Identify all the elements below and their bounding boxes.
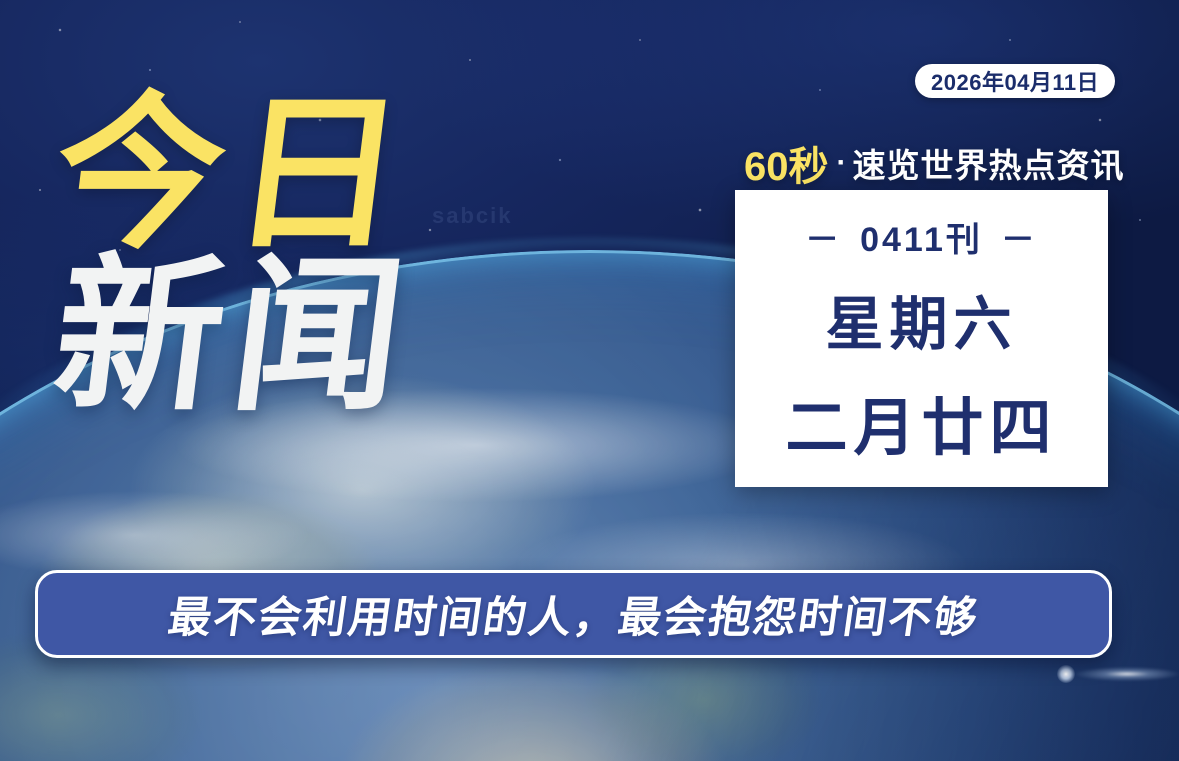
date-badge: 2026年04月11日 [915, 64, 1115, 98]
issue-row: － 0411刊 － [805, 212, 1038, 261]
lunar-date-label: 二月廿四 [785, 377, 1057, 467]
tagline: 60秒 · 速览世界热点资讯 [744, 140, 1110, 186]
lens-flare-core [1057, 665, 1075, 683]
issue-dash-left: － [805, 212, 842, 261]
tagline-rest: 速览世界热点资讯 [853, 139, 1125, 187]
title-line-today: 今日 [46, 96, 495, 254]
poster-title: 今日 新闻 [56, 96, 486, 416]
tagline-highlight: 60秒 [744, 134, 829, 192]
issue-dash-right: － [1001, 212, 1038, 261]
quote-text: 最不会利用时间的人，最会抱怨时间不够 [164, 583, 983, 645]
quote-banner: 最不会利用时间的人，最会抱怨时间不够 [35, 570, 1112, 658]
issue-card: － 0411刊 － 星期六 二月廿四 [735, 190, 1108, 487]
title-line-news: 新闻 [46, 258, 495, 416]
weekday-label: 星期六 [825, 277, 1017, 361]
tagline-separator: · [837, 146, 847, 180]
news-poster: sabcik 今日 新闻 2026年04月11日 60秒 · 速览世界热点资讯 … [0, 0, 1179, 761]
issue-number: 0411刊 [860, 212, 983, 261]
